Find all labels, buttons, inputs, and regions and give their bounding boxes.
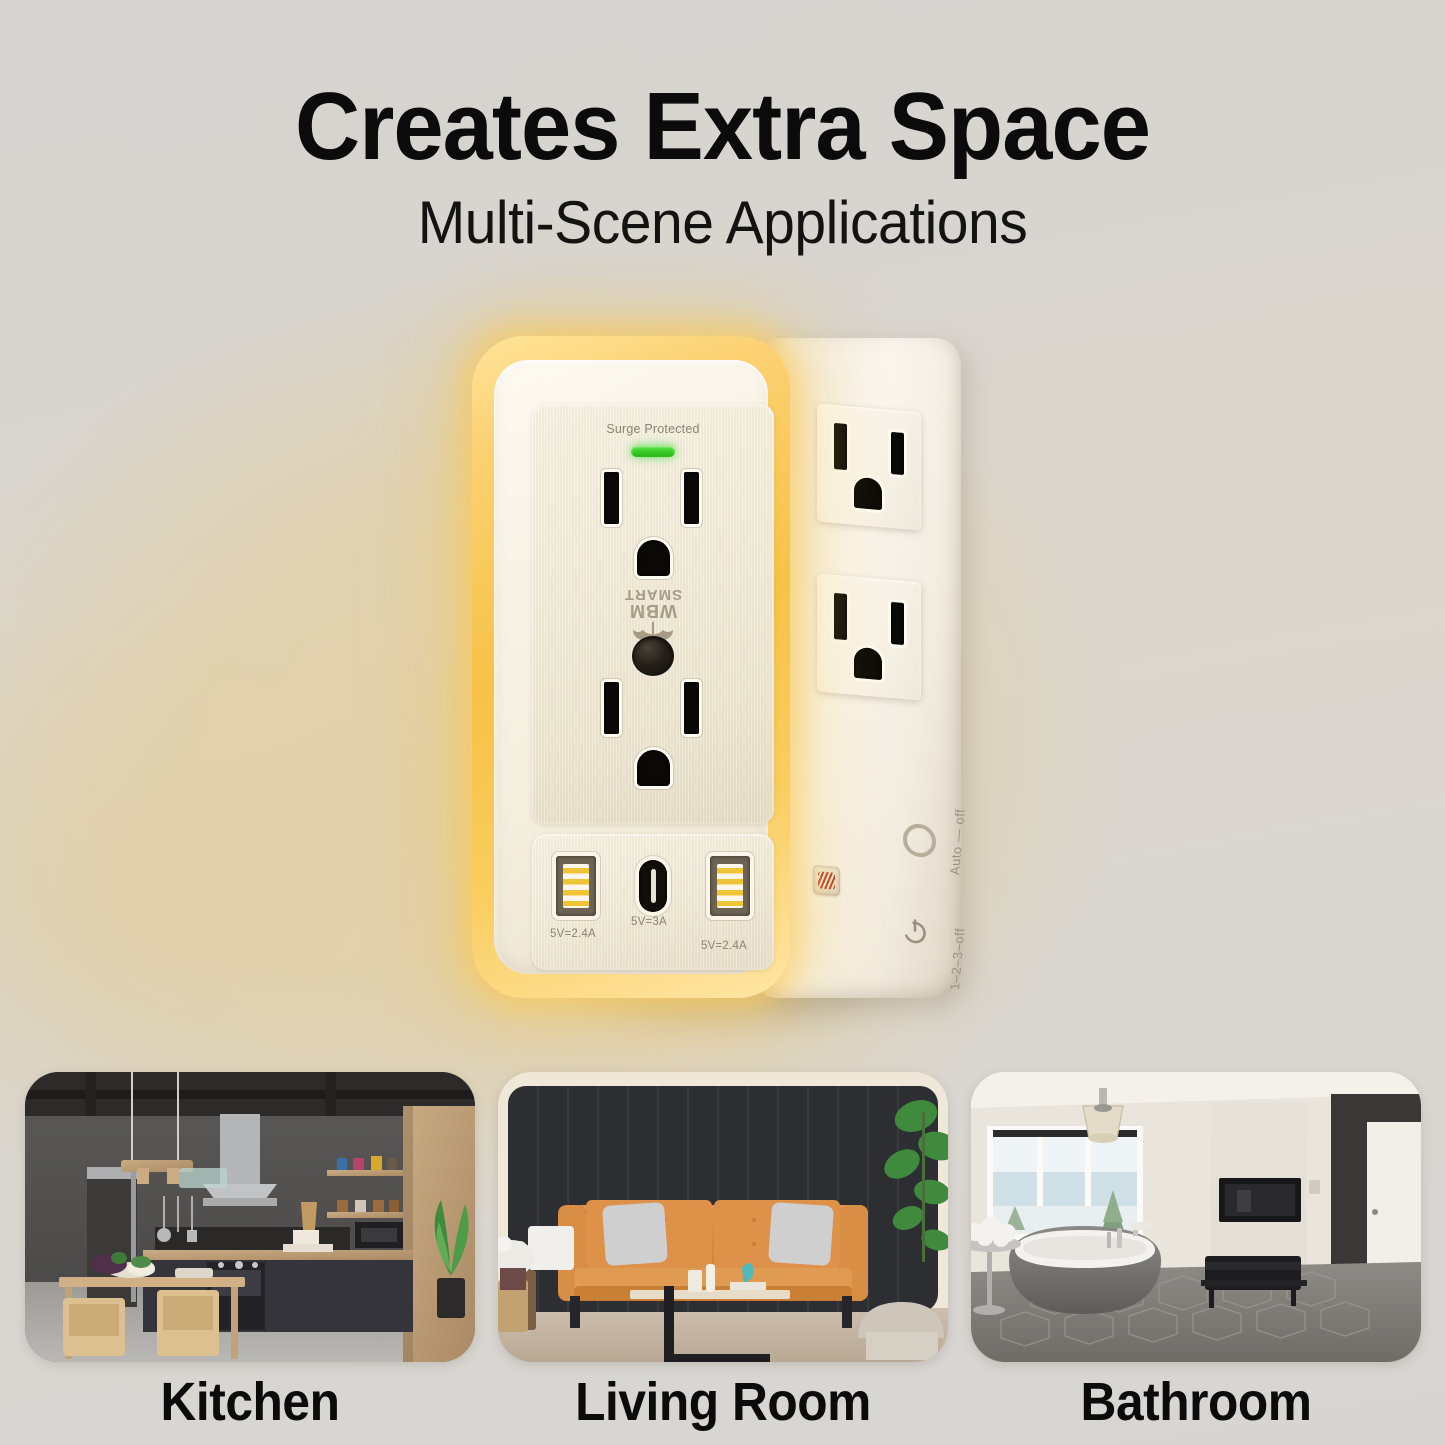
outlet-ground-hole — [637, 540, 670, 576]
outlet-slot-neutral — [834, 593, 847, 640]
scene-card-bathroom[interactable]: Bathroom — [971, 1072, 1421, 1433]
outlet-slot-hot — [891, 432, 904, 475]
page-subtitle: Multi-Scene Applications — [36, 192, 1409, 254]
kitchen-photo — [25, 1072, 475, 1362]
mounting-screw-hole — [632, 636, 674, 676]
reset-button[interactable] — [813, 865, 840, 896]
product-front-bezel: Surge Protected WBM SMAR — [494, 360, 768, 974]
night-light-glow-ring: Surge Protected WBM SMAR — [472, 336, 790, 998]
side-ac-outlet-top[interactable] — [817, 403, 921, 530]
product-marketing-image: Creates Extra Space Multi-Scene Applicat… — [0, 0, 1445, 1445]
scene-caption-bathroom: Bathroom — [989, 1371, 1403, 1433]
outlet-slot-hot — [684, 472, 699, 524]
front-ac-outlet-bottom[interactable] — [588, 676, 718, 804]
usb-a-right-label: 5V=2.4A — [701, 940, 747, 952]
front-faceplate: Surge Protected WBM SMAR — [532, 404, 774, 824]
scene-card-kitchen[interactable]: Kitchen — [25, 1072, 475, 1433]
heading-block: Creates Extra Space Multi-Scene Applicat… — [0, 78, 1445, 254]
page-title: Creates Extra Space — [43, 78, 1401, 176]
outlet-ground-hole — [637, 750, 670, 786]
product-image-wall-outlet-extender: Auto — off 1–2–3–off Surge Protected — [470, 330, 990, 1055]
usb-a-port-right[interactable] — [710, 856, 750, 916]
front-ac-outlet-top[interactable] — [588, 466, 718, 594]
bathroom-photo — [971, 1072, 1421, 1362]
scene-gallery: Kitchen — [0, 1072, 1445, 1445]
power-icon[interactable] — [900, 915, 930, 948]
scene-caption-living-room: Living Room — [516, 1371, 930, 1433]
usb-a-port-left[interactable] — [556, 856, 596, 916]
surge-status-led — [631, 446, 675, 457]
outlet-ground-hole — [854, 477, 882, 510]
brand-tagline: SMART — [532, 586, 774, 602]
outlet-ground-hole — [854, 647, 882, 680]
usb-c-label: 5V=3A — [631, 916, 667, 928]
outlet-slot-neutral — [604, 472, 619, 524]
usb-c-port[interactable] — [639, 860, 667, 912]
outlet-slot-neutral — [604, 682, 619, 734]
side-ac-outlet-bottom[interactable] — [817, 573, 921, 700]
scene-caption-kitchen: Kitchen — [43, 1371, 457, 1433]
outlet-slot-neutral — [834, 423, 847, 470]
surge-protected-label: Surge Protected — [532, 422, 774, 436]
outlet-slot-hot — [684, 682, 699, 734]
brand-name: WBM — [532, 602, 774, 620]
outlet-slot-hot — [891, 602, 904, 645]
brand-logo: WBM SMART — [532, 586, 774, 643]
scene-card-living-room[interactable]: Living Room — [498, 1072, 948, 1433]
living-room-photo — [498, 1072, 948, 1362]
usb-a-left-label: 5V=2.4A — [550, 928, 596, 940]
usb-port-panel: 5V=2.4A 5V=3A 5V=2.4A — [532, 834, 774, 970]
